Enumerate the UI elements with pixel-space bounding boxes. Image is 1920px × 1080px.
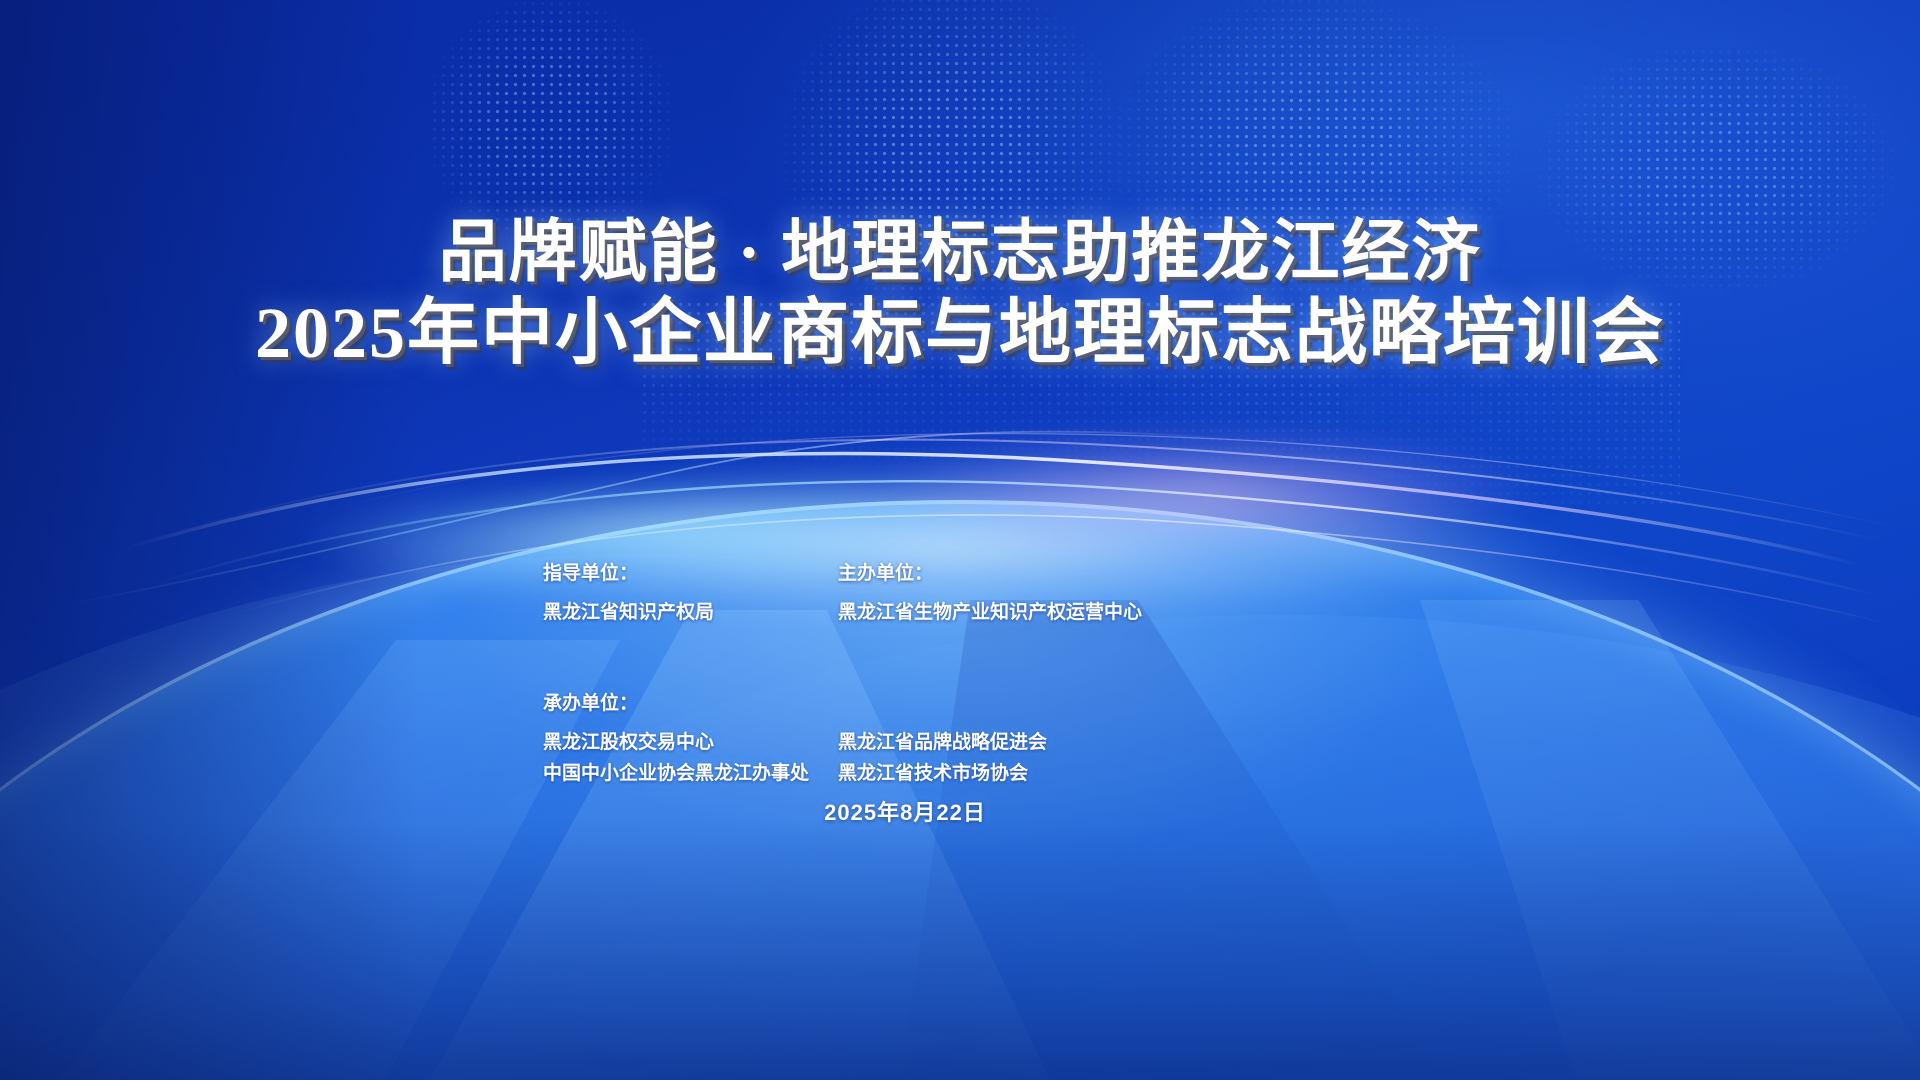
spacer [543,589,1303,597]
organizations-block: 指导单位： 主办单位： 黑龙江省知识产权局 黑龙江省生物产业知识产权运营中心 [543,558,1303,789]
page-title: 品牌赋能 · 地理标志助推龙江经济 2025年中小企业商标与地理标志战略培训会 [0,216,1920,373]
organizer-org-name: 黑龙江省技术市场协会 [838,758,1258,789]
spacer [543,719,1303,727]
organizer-org-name: 中国中小企业协会黑龙江办事处 [543,758,838,789]
spacer [543,628,1303,688]
title-line-1: 品牌赋能 · 地理标志助推龙江经济 [0,216,1920,289]
org-labels-row: 指导单位： 主办单位： [543,558,1303,589]
org-names-row: 黑龙江省知识产权局 黑龙江省生物产业知识产权运营中心 [543,597,1303,628]
guidance-host-group: 指导单位： 主办单位： 黑龙江省知识产权局 黑龙江省生物产业知识产权运营中心 [543,558,1303,628]
organizer-group: 承办单位： 黑龙江股权交易中心 黑龙江省品牌战略促进会 中国中小企业协会黑龙江办… [543,688,1303,789]
title-line-2: 2025年中小企业商标与地理标志战略培训会 [0,295,1920,373]
organizer-org-name: 黑龙江省品牌战略促进会 [838,727,1258,758]
organizer-names-row-1: 黑龙江股权交易中心 黑龙江省品牌战略促进会 [543,727,1303,758]
organizer-label-row: 承办单位： [543,688,1303,719]
event-date: 2025年8月22日 [0,795,1920,827]
guidance-org-name: 黑龙江省知识产权局 [543,597,838,628]
organizer-org-name: 黑龙江股权交易中心 [543,727,838,758]
banner-canvas: 品牌赋能 · 地理标志助推龙江经济 2025年中小企业商标与地理标志战略培训会 … [0,0,1920,1080]
host-label: 主办单位： [838,558,1258,589]
host-org-name: 黑龙江省生物产业知识产权运营中心 [838,597,1258,628]
event-date-text: 2025年8月22日 [824,795,986,827]
guidance-label: 指导单位： [543,558,838,589]
organizer-label: 承办单位： [543,688,838,719]
organizer-names-row-2: 中国中小企业协会黑龙江办事处 黑龙江省技术市场协会 [543,758,1303,789]
